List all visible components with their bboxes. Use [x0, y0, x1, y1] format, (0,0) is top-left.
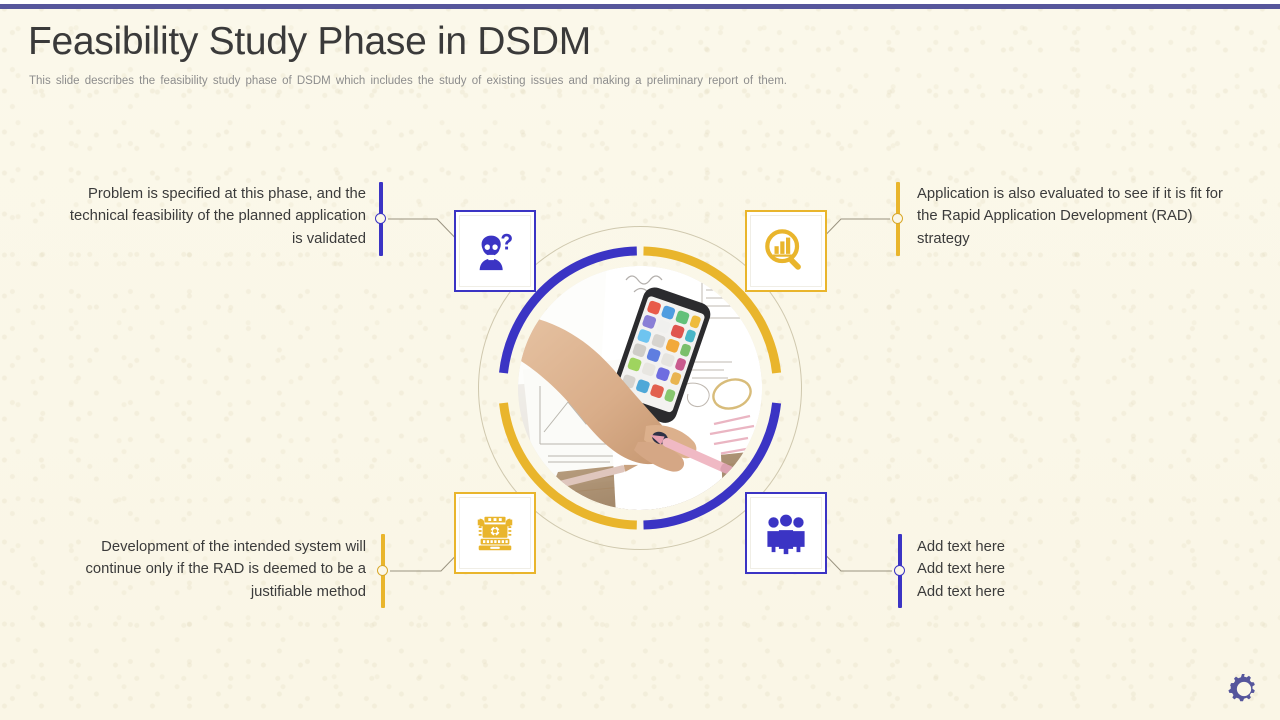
center-photo	[518, 266, 762, 510]
text-top-right: Application is also evaluated to see if …	[917, 183, 1237, 250]
page-title: Feasibility Study Phase in DSDM	[28, 20, 591, 64]
gear-icon	[1227, 672, 1261, 706]
text-bottom-right[interactable]: Add text here Add text here Add text her…	[917, 536, 1237, 603]
icon-box-bottom-left[interactable]	[454, 492, 536, 574]
text-top-left: Problem is specified at this phase, and …	[58, 183, 366, 250]
person-question-icon	[472, 228, 518, 274]
connector-node-bottom-right	[894, 565, 905, 576]
top-accent-bar	[0, 4, 1280, 9]
typewriter-icon	[472, 510, 518, 556]
connector-node-bottom-left	[377, 565, 388, 576]
slide-canvas: Feasibility Study Phase in DSDM This sli…	[0, 0, 1280, 720]
page-subtitle: This slide describes the feasibility stu…	[29, 75, 787, 87]
icon-box-top-right[interactable]	[745, 210, 827, 292]
icon-box-bottom-right[interactable]	[745, 492, 827, 574]
connector-node-top-right	[892, 213, 903, 224]
people-group-icon	[763, 510, 809, 556]
icon-box-top-left[interactable]	[454, 210, 536, 292]
connector-node-top-left	[375, 213, 386, 224]
magnifier-bar-chart-icon	[763, 228, 809, 274]
text-bottom-left: Development of the intended system will …	[58, 536, 366, 603]
